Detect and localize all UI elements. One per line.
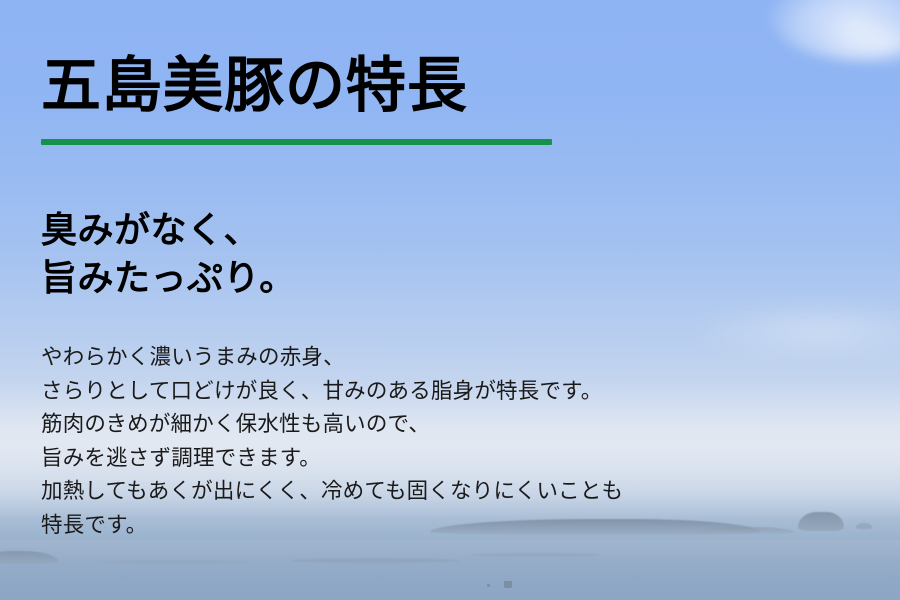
subheading: 臭みがなく、 旨みたっぷり。 (41, 206, 296, 302)
body-line: 旨みを逃さず調理できます。 (41, 442, 623, 476)
body-line: 筋肉のきめが細かく保水性も高いので、 (41, 408, 623, 442)
subheading-line: 旨みたっぷり。 (41, 254, 296, 302)
body-line: 特長です。 (41, 509, 623, 543)
body-line: さらりとして口どけが良く、甘みのある脂身が特長です。 (41, 375, 623, 409)
body-copy: やわらかく濃いうまみの赤身、 さらりとして口どけが良く、甘みのある脂身が特長です… (41, 341, 623, 542)
page-title: 五島美豚の特長 (41, 56, 468, 116)
body-line: やわらかく濃いうまみの赤身、 (41, 341, 623, 375)
slide-canvas: 五島美豚の特長 臭みがなく、 旨みたっぷり。 やわらかく濃いうまみの赤身、 さら… (0, 0, 900, 600)
title-underline-rule (41, 139, 552, 145)
subheading-line: 臭みがなく、 (41, 206, 296, 254)
body-line: 加熱してもあくが出にくく、冷めても固くなりにくいことも (41, 475, 623, 509)
slide-content: 五島美豚の特長 臭みがなく、 旨みたっぷり。 やわらかく濃いうまみの赤身、 さら… (0, 0, 900, 600)
